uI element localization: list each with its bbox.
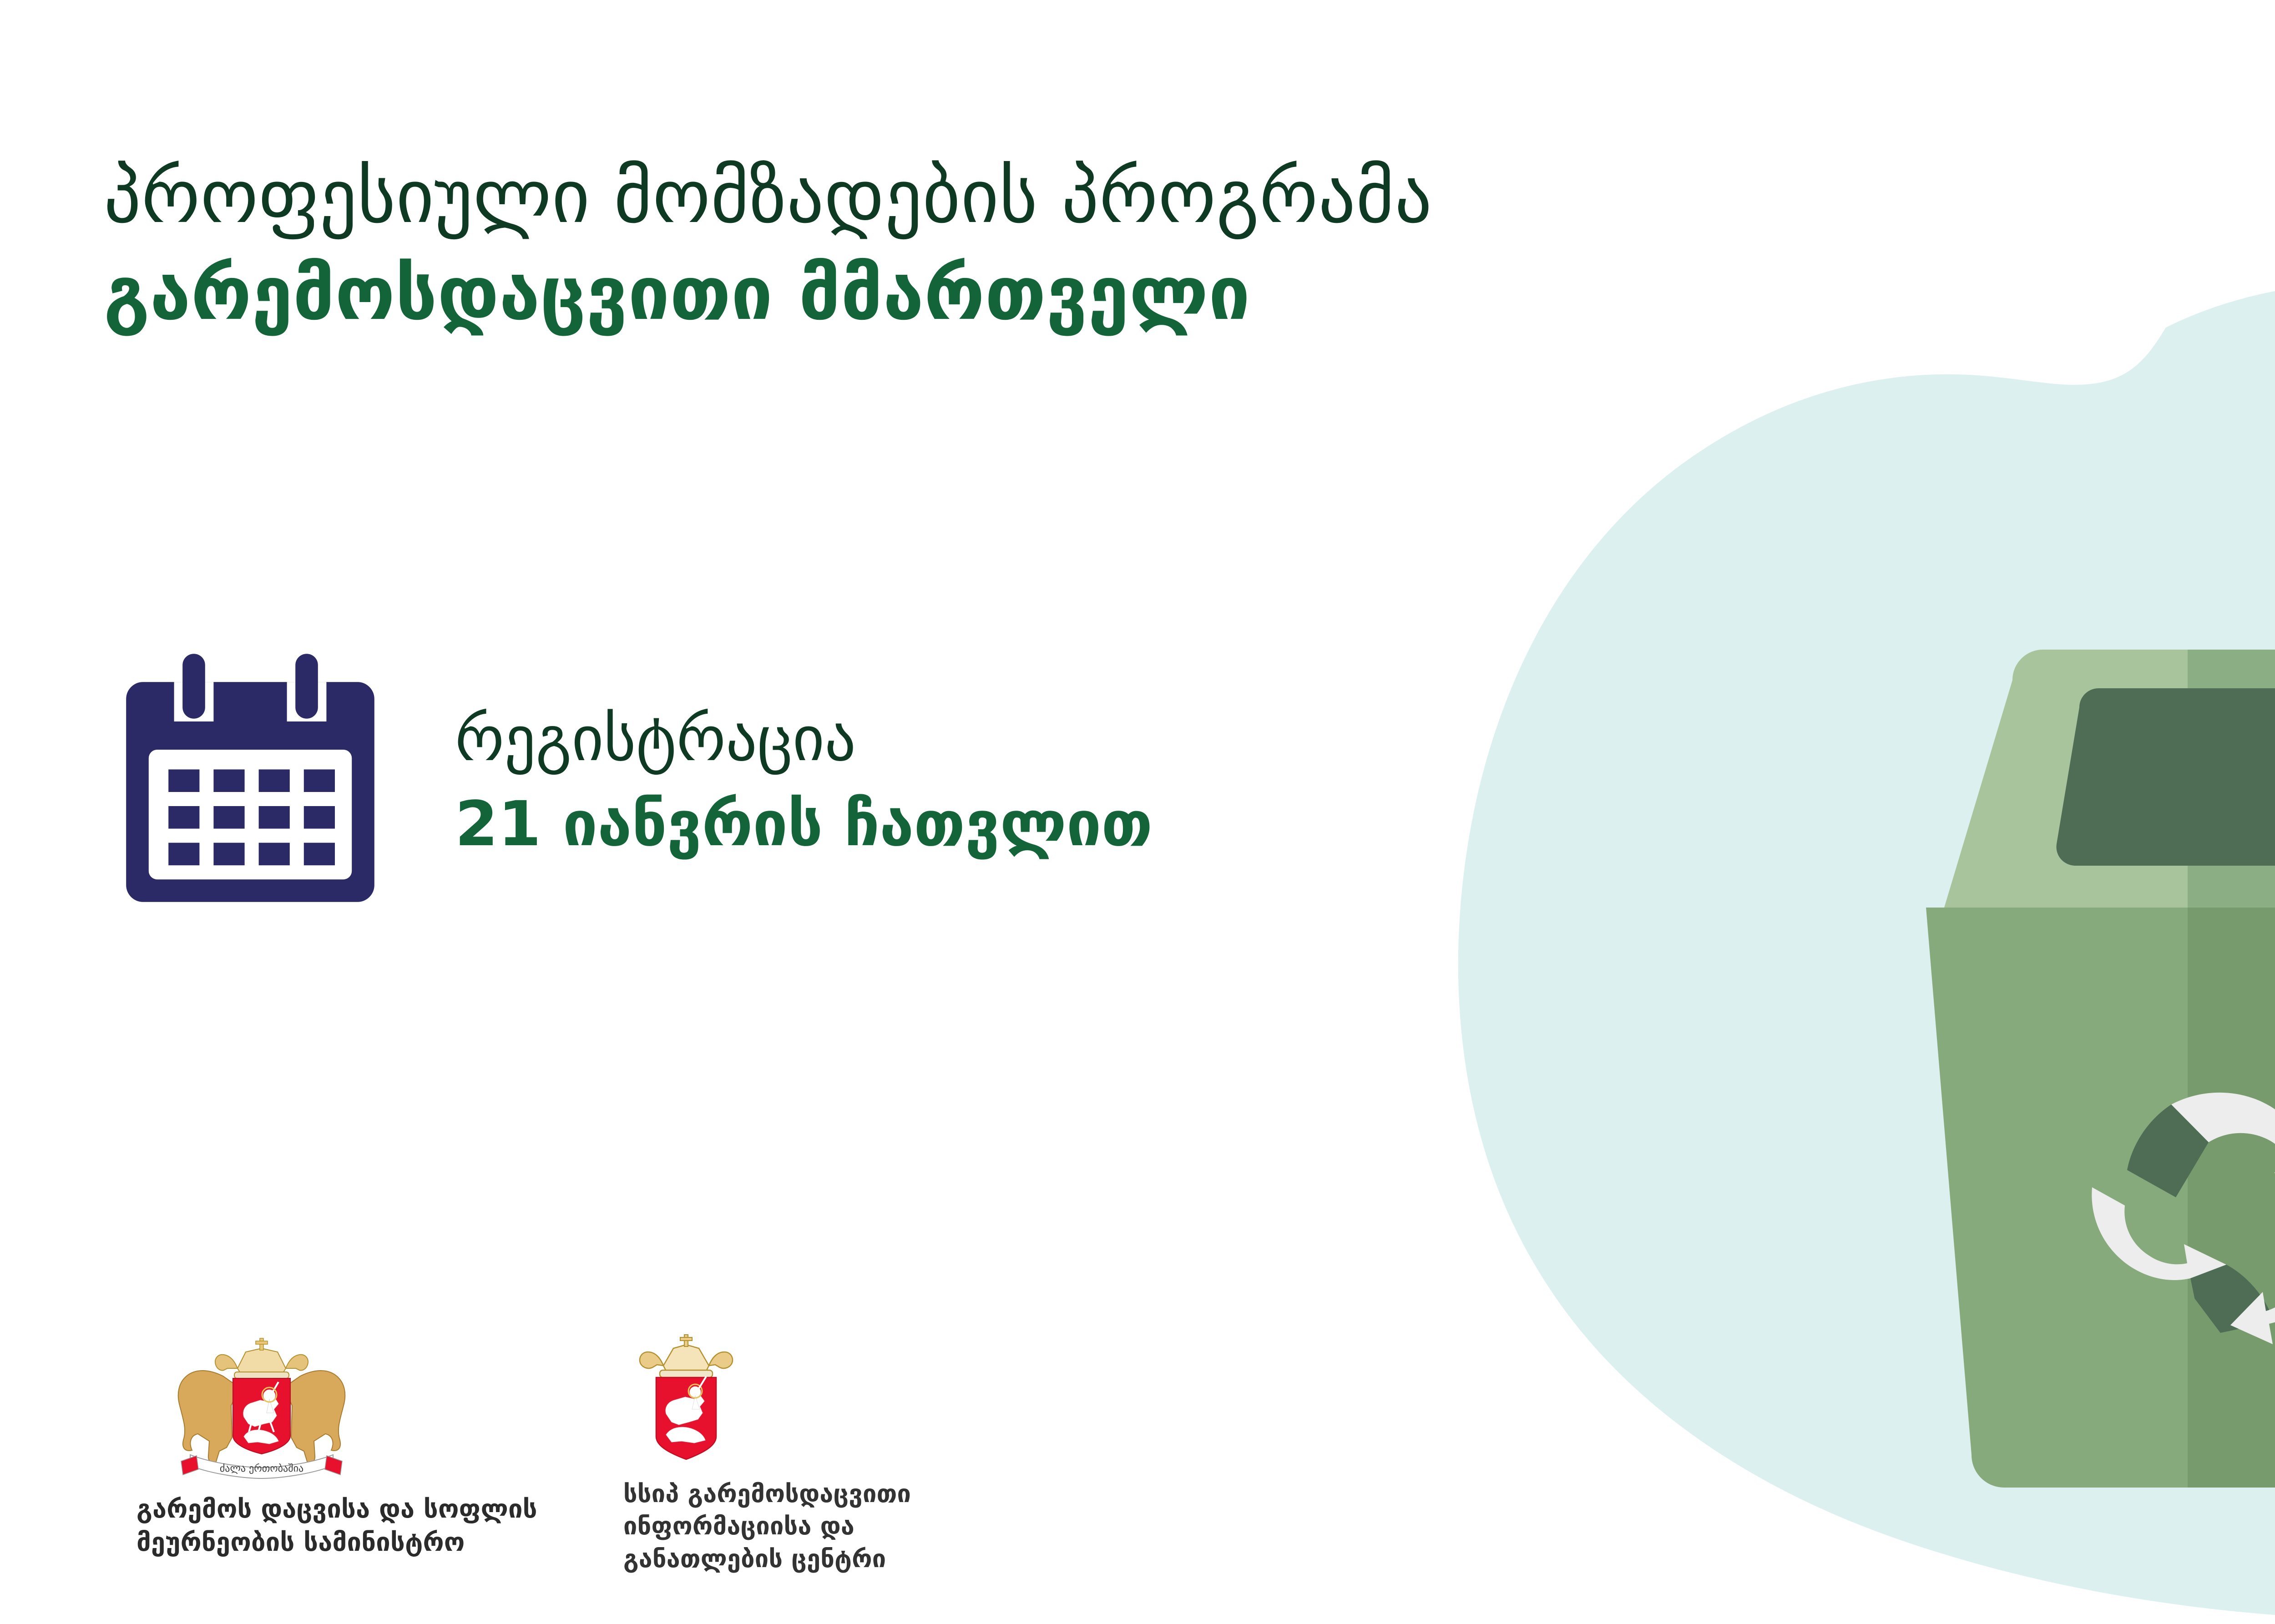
calendar-icon — [109, 637, 391, 919]
program-title-line-1: პროფესიული მომზადების პროგრამა — [104, 150, 2106, 244]
ministry-logo-group: ძალა ერთობაშია გარემოს დაცვისა და სოფლის… — [136, 1333, 546, 1559]
registration-deadline: 21 იანვრის ჩათვლით — [455, 784, 1153, 865]
emblem-motto: ძალა ერთობაშია — [220, 1463, 303, 1474]
center-caption-line-1: სსიპ გარემოსდაცვითი — [623, 1478, 1101, 1510]
program-title-line-2: გარემოსდაცვითი მმართველი — [104, 247, 2106, 341]
center-caption: სსიპ გარემოსდაცვითი ინფორმაციისა და განა… — [623, 1478, 1101, 1575]
ministry-caption-line-1: გარემოს დაცვისა და სოფლის — [136, 1493, 546, 1526]
recycling-bin-illustration — [1447, 273, 2275, 1624]
center-caption-line-3: განათლების ცენტრი — [623, 1543, 1101, 1575]
center-caption-line-2: ინფორმაციისა და — [623, 1510, 1101, 1542]
registration-text: რეგისტრაცია 21 იანვრის ჩათვლით — [455, 691, 1153, 865]
illustration-area — [1447, 273, 2275, 1624]
ministry-caption-line-2: მეურნეობის სამინისტრო — [136, 1526, 546, 1559]
center-logo-group: სსიპ გარემოსდაცვითი ინფორმაციისა და განა… — [623, 1333, 1101, 1575]
footer-logos: ძალა ერთობაშია გარემოს დაცვისა და სოფლის… — [136, 1333, 1101, 1575]
ministry-caption: გარემოს დაცვისა და სოფლის მეურნეობის სამ… — [136, 1493, 546, 1559]
registration-block: რეგისტრაცია 21 იანვრის ჩათვლით — [109, 637, 1153, 919]
page-title: პროფესიული მომზადების პროგრამა გარემოსდა… — [104, 150, 2106, 342]
georgia-coat-of-arms-icon: ძალა ერთობაშია — [155, 1333, 369, 1483]
georgia-crowned-shield-icon — [632, 1333, 741, 1469]
registration-label: რეგისტრაცია — [455, 699, 1153, 780]
